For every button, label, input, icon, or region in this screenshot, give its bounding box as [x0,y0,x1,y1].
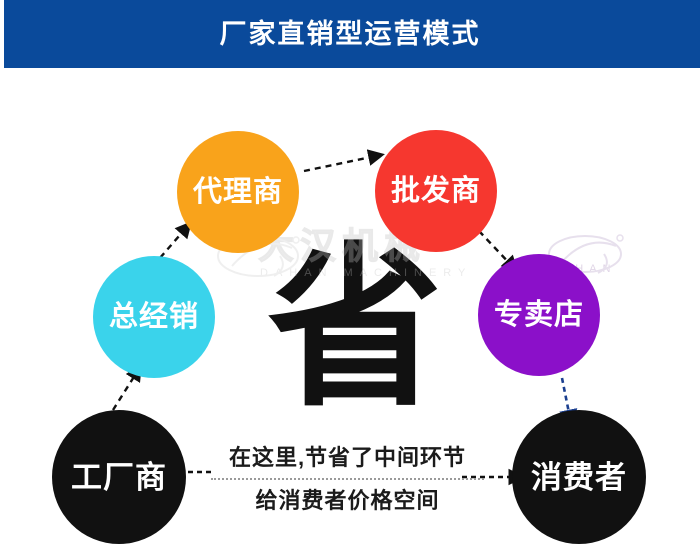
header-left-notch [0,0,4,72]
background-glyph: 省 [255,242,455,417]
connector-wholesaler-to-store [479,231,512,266]
connector-factory-to-distributor [113,372,137,410]
diagram-canvas: 省 大汉机械 DAHAN MACHINERY DAHAN [0,68,700,552]
node-consumer[interactable]: 消费者 [512,410,646,544]
page-root: 厂家直销型运营模式 省 大汉机械 DAHAN MACHINERY [0,0,700,552]
node-wholesaler[interactable]: 批发商 [375,130,497,252]
slogan-line-2: 给消费者价格空间 [205,484,490,518]
node-agent[interactable]: 代理商 [177,131,299,253]
header-banner: 厂家直销型运营模式 [0,0,700,68]
node-distributor[interactable]: 总经销 [93,256,215,378]
slogan-block: 在这里,节省了中间环节 给消费者价格空间 [205,441,490,518]
slogan-divider [211,478,484,480]
node-store[interactable]: 专卖店 [478,254,600,376]
node-factory[interactable]: 工厂商 [52,410,186,544]
node-distributor-label: 总经销 [109,303,199,332]
node-wholesaler-label: 批发商 [391,177,481,206]
page-title: 厂家直销型运营模式 [220,21,481,48]
connector-agent-to-wholesaler [304,156,376,171]
slogan-line-1: 在这里,节省了中间环节 [205,441,490,475]
node-agent-label: 代理商 [193,178,283,207]
node-factory-label: 工厂商 [71,462,167,493]
node-consumer-label: 消费者 [531,462,627,493]
node-store-label: 专卖店 [494,301,584,330]
